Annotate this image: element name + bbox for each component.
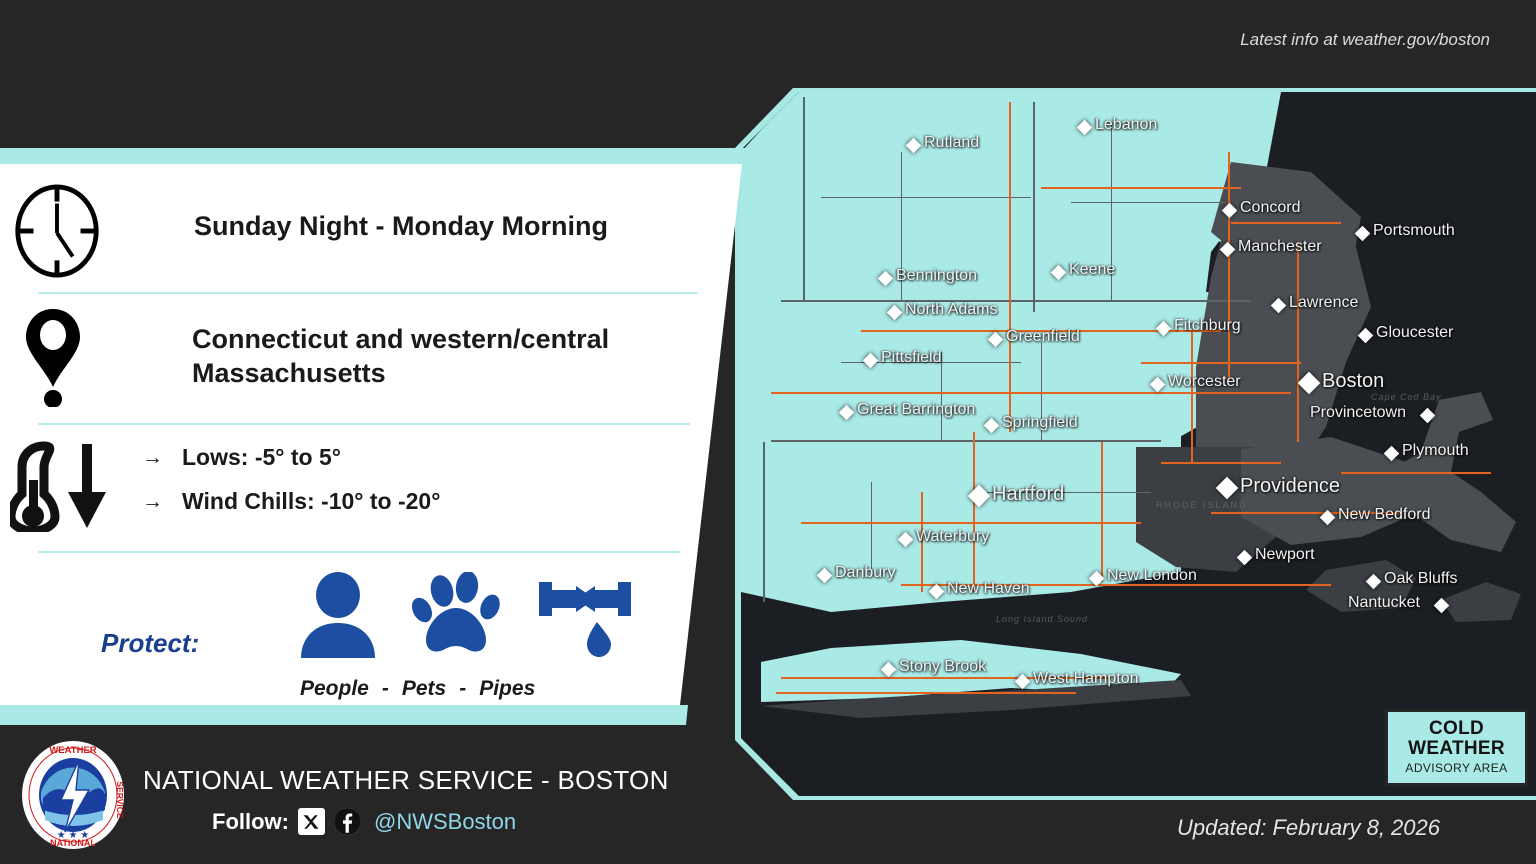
highway-i84 <box>801 522 1141 524</box>
city-label: Great Barrington <box>857 401 975 419</box>
temperature-lows: Lows: -5° to 5° <box>182 444 341 471</box>
panel-divider-2 <box>38 423 690 425</box>
city-label: Springfield <box>1002 414 1078 432</box>
temperature-item: → Wind Chills: -10° to -20° <box>142 488 440 515</box>
svg-text:WEATHER: WEATHER <box>49 745 96 756</box>
protect-pets-label: Pets <box>402 677 446 701</box>
city-label: Concord <box>1240 199 1300 217</box>
leaking-pipe-icon <box>537 572 633 665</box>
city-label: Rutland <box>924 134 979 152</box>
location-text: Connecticut and western/central Massachu… <box>192 322 712 391</box>
state-border-ny-vt <box>803 97 805 302</box>
highway-i95-coast <box>1297 242 1299 442</box>
highway-i91-ct <box>973 432 975 592</box>
svg-text:SERVICE: SERVICE <box>115 781 125 818</box>
temperature-list: → Lows: -5° to 5° → Wind Chills: -10° to… <box>142 444 440 532</box>
city-label: Greenfield <box>1006 328 1080 346</box>
highway-nh-east <box>1231 222 1341 224</box>
city-label: West Hampton <box>1033 670 1139 688</box>
advisory-map[interactable]: Cape Cod Bay Long Island Sound RHODE ISL… <box>741 92 1536 796</box>
paw-print-icon <box>412 572 504 665</box>
highway-ri-connector <box>1161 462 1281 464</box>
protect-names-row: People - Pets - Pipes <box>300 677 535 701</box>
city-label: Hartford <box>992 483 1064 506</box>
highway-cape <box>1341 472 1491 474</box>
social-handle[interactable]: @NWSBoston <box>374 809 516 835</box>
water-label-long-island-sound: Long Island Sound <box>996 614 1088 624</box>
county-border-a <box>821 197 1031 198</box>
panel-divider-1 <box>38 292 698 294</box>
timing-text: Sunday Night - Monday Morning <box>194 211 608 242</box>
map-legend: COLD WEATHER ADVISORY AREA <box>1385 709 1528 786</box>
follow-label: Follow: <box>212 809 289 835</box>
protect-people-label: People <box>300 677 369 701</box>
city-label: Danbury <box>835 564 895 582</box>
legend-line-2: WEATHER <box>1402 739 1511 760</box>
follow-row: Follow: @NWSBoston <box>212 808 516 835</box>
city-label: Providence <box>1240 475 1340 498</box>
updated-timestamp: Updated: February 8, 2026 <box>1177 815 1440 841</box>
city-label: Nantucket <box>1348 594 1420 612</box>
legend-line-3: ADVISORY AREA <box>1402 761 1511 775</box>
temperature-item: → Lows: -5° to 5° <box>142 444 440 471</box>
state-border-ny-ct <box>763 442 765 602</box>
protect-icons-row <box>297 572 633 665</box>
city-label: Pittsfield <box>881 349 941 367</box>
clock-icon <box>8 182 106 285</box>
protect-pipes-label: Pipes <box>479 677 535 701</box>
city-label: Waterbury <box>916 528 989 546</box>
facebook-icon[interactable] <box>334 808 361 835</box>
header-panel <box>0 0 760 148</box>
panel-divider-3 <box>38 551 680 553</box>
city-label: Newport <box>1255 546 1315 564</box>
arrow-icon: → <box>142 446 182 470</box>
city-label: Manchester <box>1238 238 1322 256</box>
city-label: Bennington <box>896 267 977 285</box>
footer-accent-divider <box>0 705 688 725</box>
city-label: Lebanon <box>1095 116 1157 134</box>
city-label: New Bedford <box>1338 506 1431 524</box>
city-label: North Adams <box>905 301 997 319</box>
county-border-i <box>871 482 872 572</box>
highway-i395 <box>1101 442 1103 582</box>
protect-separator: - <box>459 677 466 701</box>
state-label-rhode-island: RHODE ISLAND <box>1156 500 1248 510</box>
city-label: Oak Bluffs <box>1384 570 1458 588</box>
city-label: Provincetown <box>1310 404 1406 422</box>
city-label: Boston <box>1322 370 1384 393</box>
city-label: Worcester <box>1168 373 1241 391</box>
city-label: New Haven <box>947 580 1030 598</box>
location-pin-icon <box>23 307 83 412</box>
highway-li-southern <box>776 692 1076 694</box>
legend-line-1: COLD <box>1402 719 1511 740</box>
highway-i89 <box>1041 187 1241 189</box>
person-icon <box>297 572 379 665</box>
city-label: Fitchburg <box>1174 317 1241 335</box>
svg-text:★ ★ ★: ★ ★ ★ <box>57 830 89 841</box>
latest-info-link[interactable]: Latest info at weather.gov/boston <box>1240 30 1490 50</box>
city-label: Stony Brook <box>899 658 986 676</box>
highway-i91 <box>1009 102 1011 432</box>
city-label: Portsmouth <box>1373 222 1455 240</box>
highway-i290 <box>1141 362 1301 364</box>
city-label: Lawrence <box>1289 294 1358 312</box>
twitter-icon[interactable] <box>298 808 325 835</box>
state-border-ma-north <box>781 300 1251 302</box>
city-label: Plymouth <box>1402 442 1469 460</box>
nws-seal-logo: WEATHER NATIONAL SERVICE ★ ★ ★ <box>21 740 125 855</box>
city-label: Gloucester <box>1376 324 1453 342</box>
temperature-windchills: Wind Chills: -10° to -20° <box>182 488 440 515</box>
arrow-icon: → <box>142 490 182 514</box>
highway-i90-masspike <box>771 392 1291 394</box>
county-border-c <box>1071 202 1231 203</box>
water-label-cape-cod-bay: Cape Cod Bay <box>1371 392 1442 402</box>
highway-i495 <box>1191 332 1193 462</box>
header-accent-divider <box>0 148 757 164</box>
city-label: Keene <box>1069 261 1115 279</box>
protect-label: Protect: <box>101 628 199 659</box>
city-label: New London <box>1107 567 1197 585</box>
state-border-vt-nh <box>1033 102 1035 312</box>
protect-separator: - <box>382 677 389 701</box>
thermometer-down-icon <box>10 440 122 537</box>
agency-name: NATIONAL WEATHER SERVICE - BOSTON <box>143 765 669 796</box>
